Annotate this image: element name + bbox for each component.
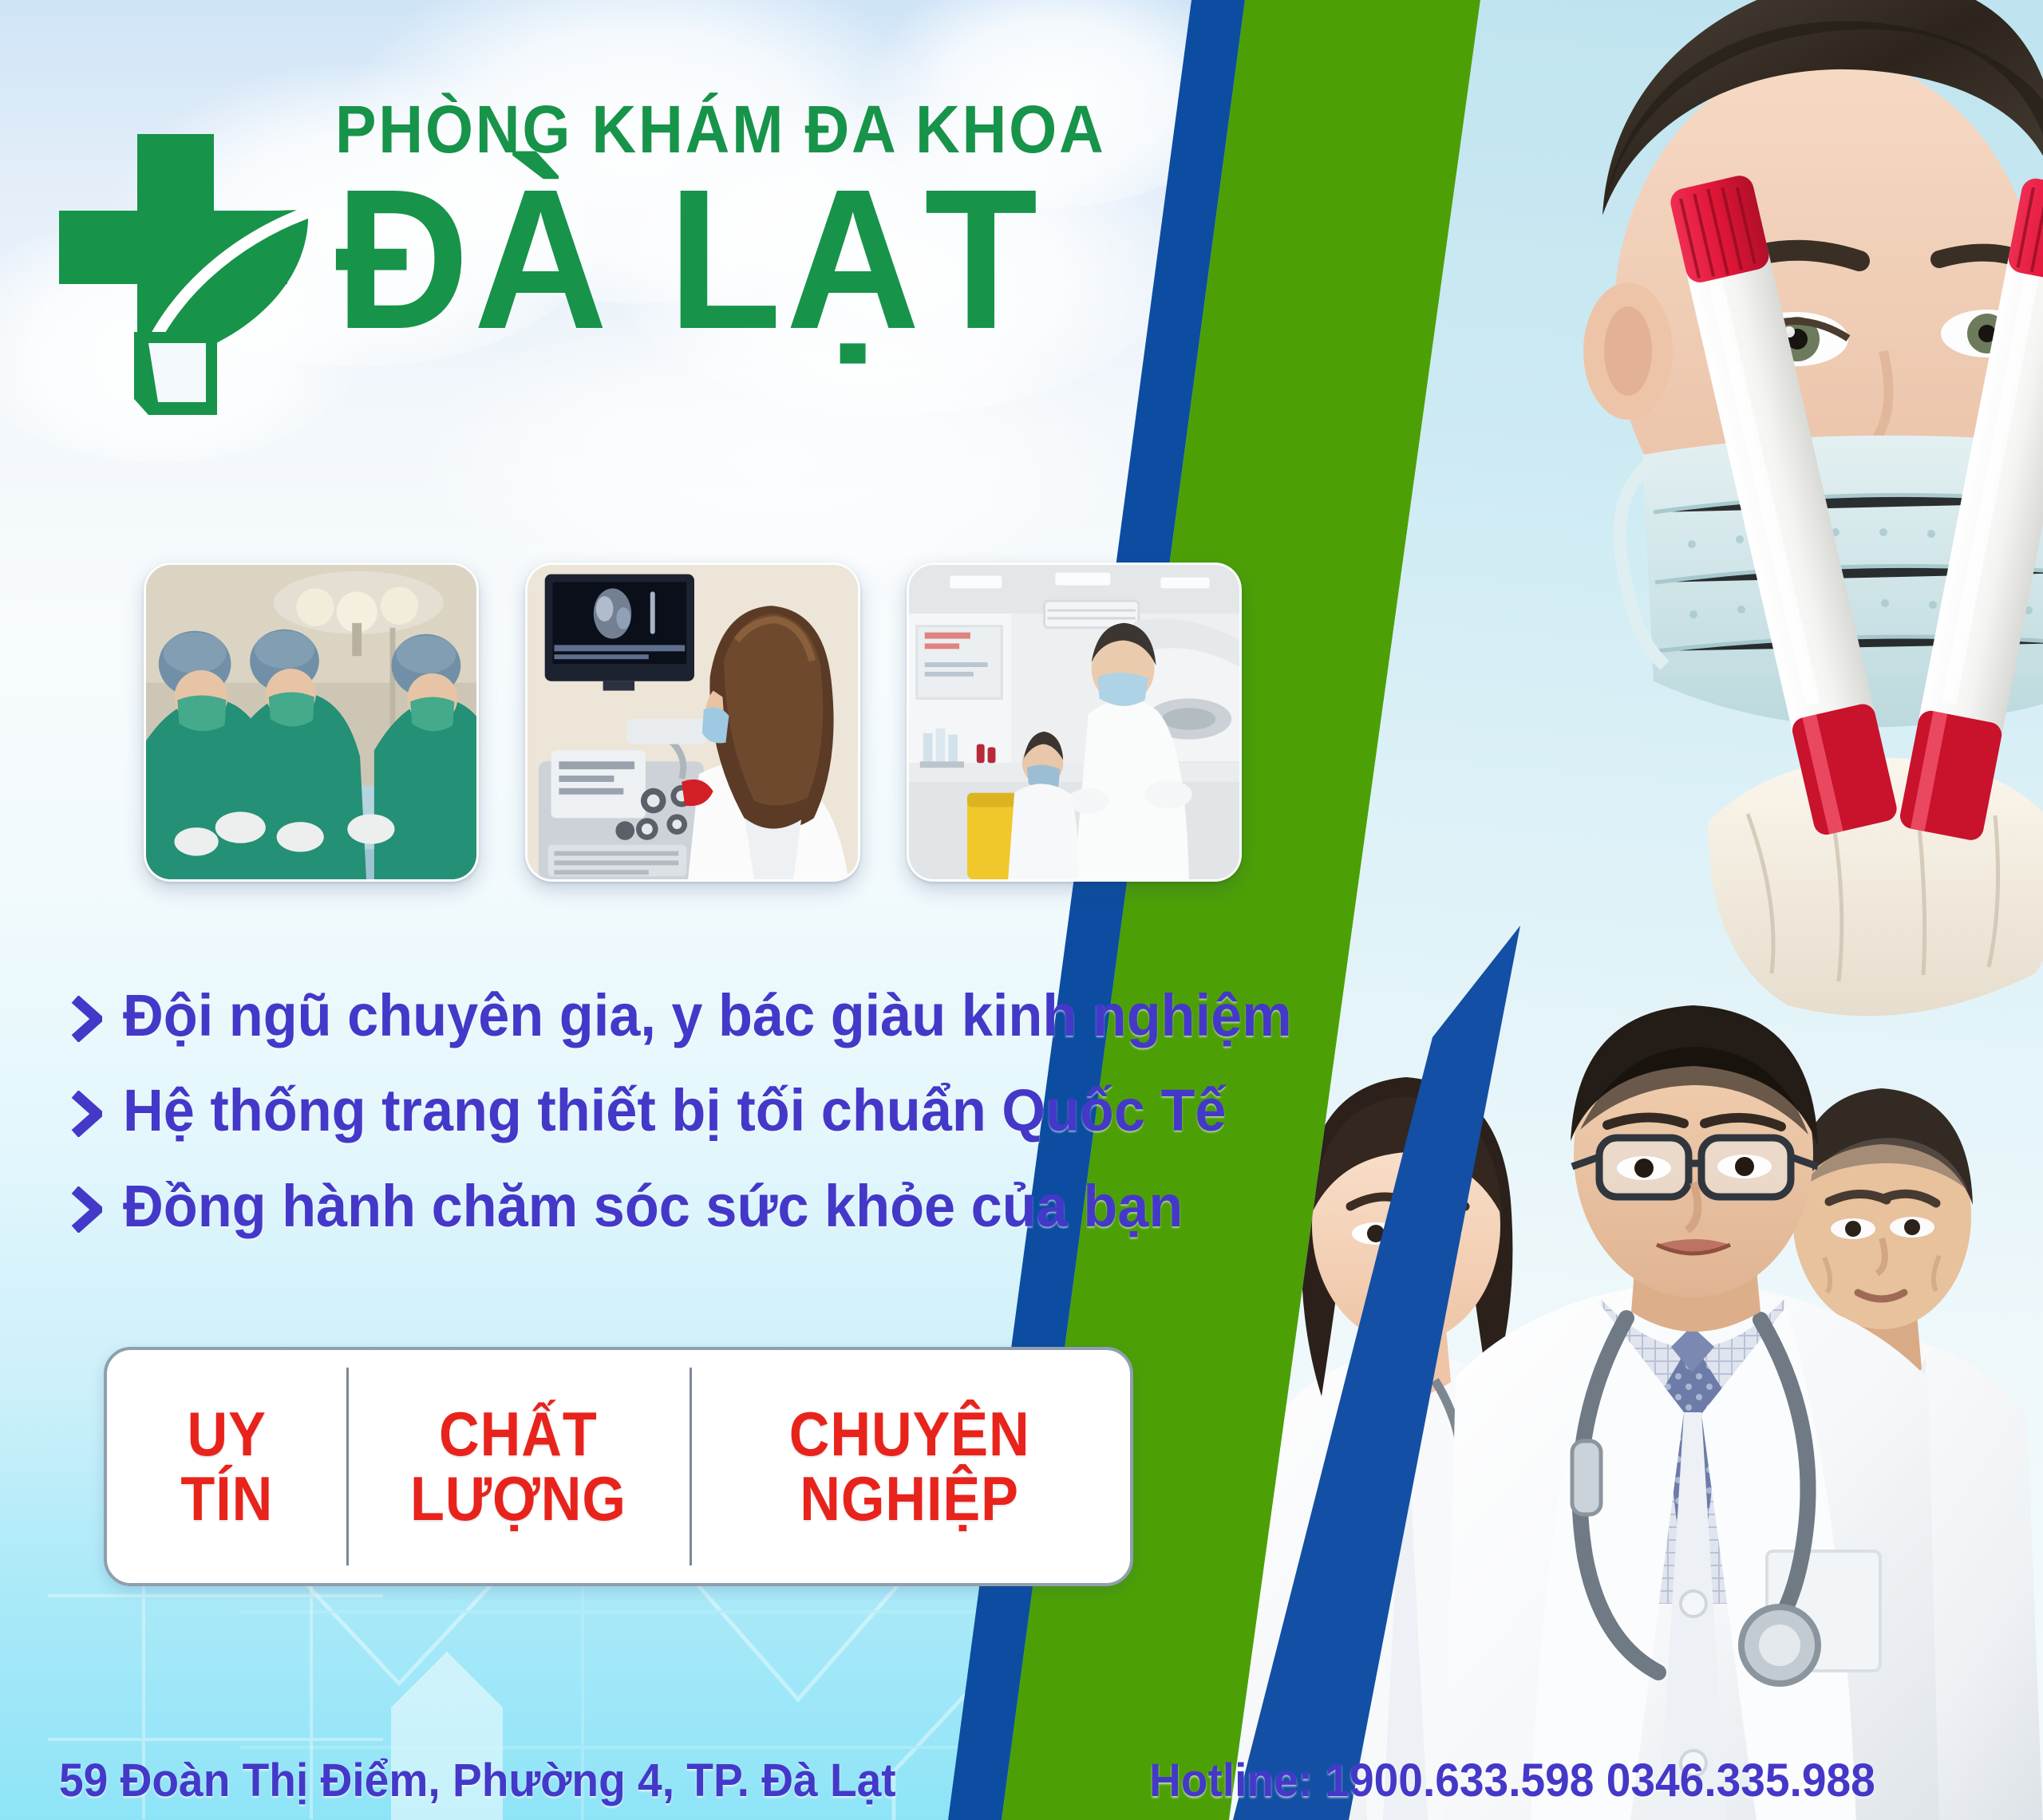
clinic-address: 59 Đoàn Thị Điểm, Phường 4, TP. Đà Lạt	[59, 1754, 896, 1807]
chevron-right-icon	[70, 1083, 102, 1131]
value-proposition-box: UY TÍN CHẤT LƯỢNG CHUYÊN NGHIỆP	[104, 1347, 1133, 1586]
brand-titles: PHÒNG KHÁM ĐA KHOA ĐÀ LẠT	[335, 96, 1189, 351]
list-item-label: Đồng hành chăm sóc sức khỏe của bạn	[123, 1176, 1183, 1236]
clinic-advertisement-banner: PHÒNG KHÁM ĐA KHOA ĐÀ LẠT	[0, 0, 2043, 1820]
value-item-line1: CHUYÊN	[789, 1402, 1030, 1467]
value-item-chat-luong: CHẤT LƯỢNG	[346, 1350, 690, 1583]
list-item: Đồng hành chăm sóc sức khỏe của bạn	[70, 1176, 1475, 1236]
list-item: Đội ngũ chuyên gia, y bác giàu kinh nghi…	[70, 985, 1475, 1045]
feature-bullet-list: Đội ngũ chuyên gia, y bác giàu kinh nghi…	[70, 985, 1475, 1271]
facility-photo-gallery	[144, 563, 1261, 914]
chevron-right-icon	[70, 988, 102, 1036]
value-item-line1: CHẤT	[439, 1402, 598, 1467]
lab-technician-with-test-tubes	[1508, 0, 2043, 1109]
value-item-line1: UY	[187, 1402, 266, 1467]
ultrasound-exam-photo	[525, 563, 860, 882]
chevron-right-icon	[70, 1178, 102, 1226]
brand-title: ĐÀ LẠT	[335, 168, 1129, 351]
value-item-line2: TÍN	[180, 1467, 273, 1531]
list-item-label: Đội ngũ chuyên gia, y bác giàu kinh nghi…	[123, 985, 1292, 1045]
laboratory-photo	[907, 563, 1242, 882]
list-item-label: Hệ thống trang thiết bị tối chuẩn Quốc T…	[123, 1080, 1227, 1140]
value-item-line2: LƯỢNG	[410, 1467, 626, 1531]
medical-cross-leaf-icon	[48, 128, 311, 423]
surgery-team-photo	[144, 563, 479, 882]
brand-header: PHÒNG KHÁM ĐA KHOA ĐÀ LẠT	[48, 96, 1189, 447]
list-item: Hệ thống trang thiết bị tối chuẩn Quốc T…	[70, 1080, 1475, 1140]
value-item-line2: NGHIỆP	[800, 1467, 1020, 1531]
male-doctor-with-stethoscope	[1444, 997, 1939, 1820]
clinic-hotline: Hotline: 1900.633.598 0346.335.988	[1149, 1754, 1875, 1807]
value-item-chuyen-nghiep: CHUYÊN NGHIỆP	[690, 1350, 1130, 1583]
value-item-uy-tin: UY TÍN	[107, 1350, 346, 1583]
